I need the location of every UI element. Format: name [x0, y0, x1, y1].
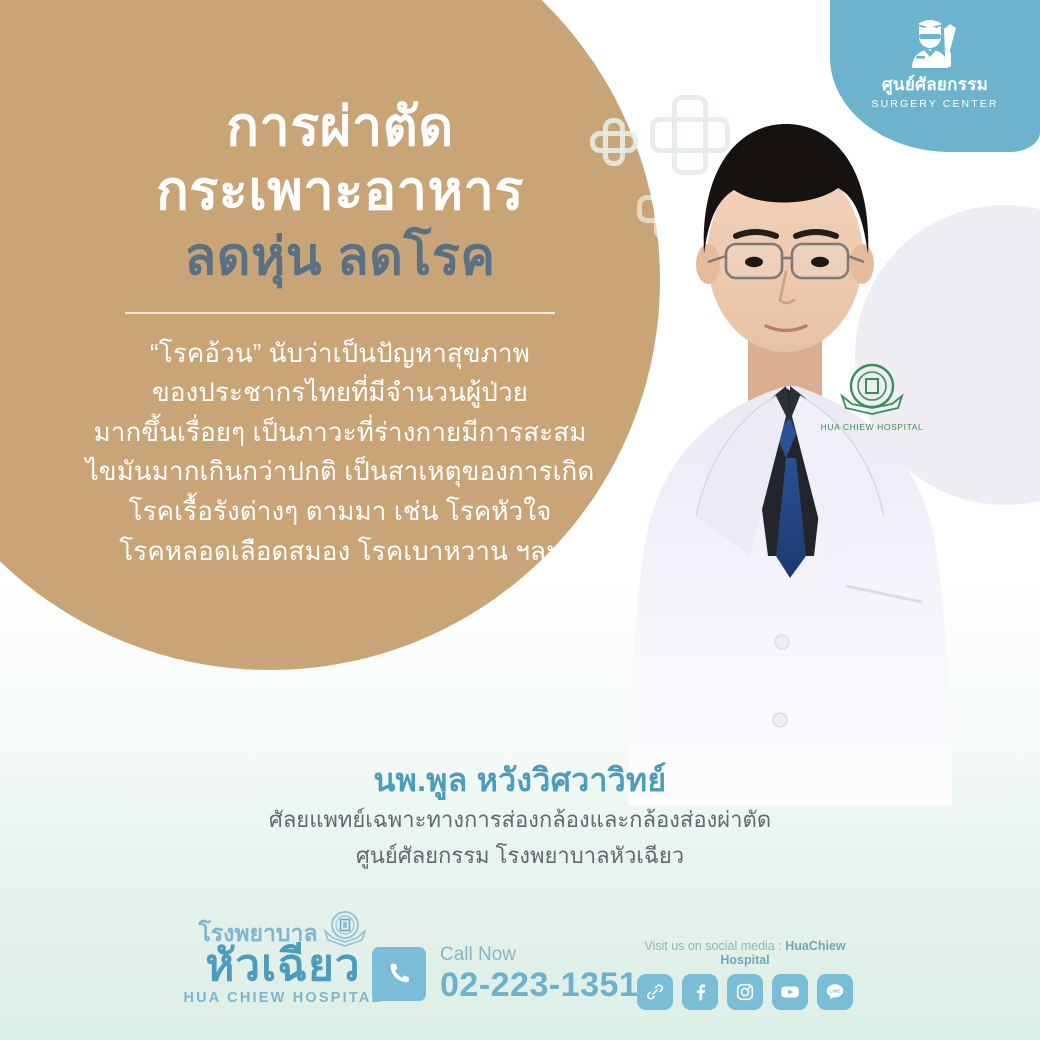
footer: โรงพยาบาล หัวเฉียว HUA CHIEW HOSPITAL C: [0, 910, 1040, 1040]
poster-canvas: HUA CHIEW HOSPITAL ศูนย์ศัลยกรรม SURGERY…: [0, 0, 1040, 1040]
body-copy-line: ไขมันมากเกินกว่าปกติ เป็นสาเหตุของการเกิ…: [60, 452, 620, 492]
instagram-icon[interactable]: [727, 974, 763, 1010]
body-copy-line: “โรคอ้วน” นับว่าเป็นปัญหาสุขภาพ: [60, 334, 620, 374]
social-block: Visit us on social media : HuaChiew Hosp…: [620, 939, 870, 1010]
link-icon[interactable]: [637, 974, 673, 1010]
body-copy-line: โรคหลอดเลือดสมอง โรคเบาหวาน ฯลฯ: [60, 532, 620, 572]
body-copy: “โรคอ้วน” นับว่าเป็นปัญหาสุขภาพ ของประชา…: [60, 334, 620, 571]
call-now-block[interactable]: Call Now 02-223-1351: [372, 945, 638, 1002]
headline-line-1: การผ่าตัด: [60, 96, 620, 160]
doctor-photo: HUA CHIEW HOSPITAL: [600, 86, 1040, 806]
doctor-credentials: นพ.พูล หวังวิศวาวิทย์ ศัลยแพทย์เฉพาะทางก…: [60, 760, 980, 872]
svg-text:LINE: LINE: [829, 989, 841, 995]
badge-title-th: ศูนย์ศัลยกรรม: [882, 76, 988, 95]
logo-text-th-main: หัวเฉียว: [178, 943, 388, 989]
phone-icon: [372, 947, 426, 1001]
doctor-name: นพ.พูล หวังวิศวาวิทย์: [60, 760, 980, 800]
headline-block: การผ่าตัด กระเพาะอาหาร ลดหุ่น ลดโรค “โรค…: [60, 96, 620, 571]
coat-emblem-text: HUA CHIEW HOSPITAL: [821, 422, 924, 432]
youtube-icon[interactable]: [772, 974, 808, 1010]
body-copy-line: มากขึ้นเรื่อยๆ เป็นภาวะที่ร่างกายมีการสะ…: [60, 413, 620, 453]
logo-text-en: HUA CHIEW HOSPITAL: [178, 990, 388, 1006]
body-copy-line: ของประชากรไทยที่มีจำนวนผู้ป่วย: [60, 373, 620, 413]
headline-divider: [125, 312, 555, 314]
headline-line-2: กระเพาะอาหาร: [60, 160, 620, 224]
body-copy-line: โรคเรื้อรังต่างๆ ตามมา เช่น โรคหัวใจ: [60, 492, 620, 532]
social-label-prefix: Visit us on social media :: [644, 939, 781, 953]
hospital-logo: โรงพยาบาล หัวเฉียว HUA CHIEW HOSPITAL: [178, 909, 388, 1006]
line-icon[interactable]: LINE: [817, 974, 853, 1010]
doctor-role: ศัลยแพทย์เฉพาะทางการส่องกล้องและกล้องส่อ…: [60, 805, 980, 836]
doctor-department: ศูนย์ศัลยกรรม โรงพยาบาลหัวเฉียว: [60, 841, 980, 872]
headline-line-3: ลดหุ่น ลดโรค: [60, 225, 620, 290]
facebook-icon[interactable]: [682, 974, 718, 1010]
phone-number[interactable]: 02-223-1351: [440, 968, 638, 1002]
surgeon-scalpel-icon: [904, 12, 966, 72]
call-now-label: Call Now: [440, 945, 638, 964]
badge-title-en: SURGERY CENTER: [871, 98, 998, 110]
social-label: Visit us on social media : HuaChiew Hosp…: [620, 939, 870, 967]
